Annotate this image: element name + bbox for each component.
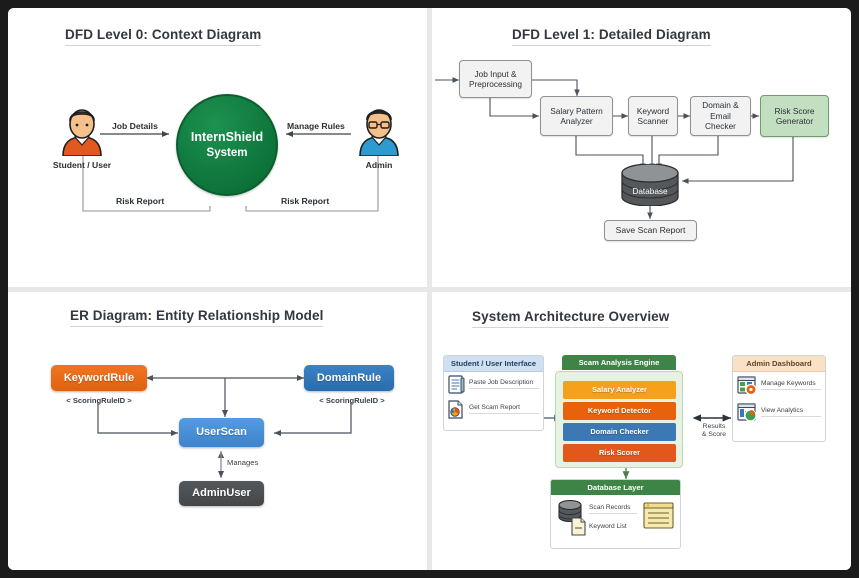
er-entity-keywordrule: KeywordRule <box>51 365 147 391</box>
internshield-system-process: InternShield System <box>176 94 278 196</box>
student-actor <box>51 104 113 156</box>
entity-label: KeywordRule <box>64 372 134 384</box>
report-chart-icon <box>448 400 465 419</box>
admin-item-label: Manage Keywords <box>761 380 821 390</box>
er-attribute-keyword-scoringruleid: < ScoringRuleID > <box>38 396 160 405</box>
admin-item-manage-keywords[interactable]: Manage Keywords <box>733 372 825 399</box>
flow-label-manage-rules: Manage Rules <box>287 121 345 131</box>
flow-label-job-details: Job Details <box>112 121 158 131</box>
flow-label-risk-report-left: Risk Report <box>116 196 164 206</box>
module-label: Salary Analyzer <box>592 385 647 394</box>
entity-label: UserScan <box>196 426 247 438</box>
connector-line1: Results <box>703 423 726 430</box>
engine-header: Scam Analysis Engine <box>562 355 676 370</box>
salary-line1: Salary Pattern <box>550 106 603 116</box>
er-entity-domainrule: DomainRule <box>304 365 394 391</box>
db-item-label: Keyword List <box>589 523 637 530</box>
student-actor-label: Student / User <box>36 160 128 170</box>
ui-item-label: Paste Job Description <box>469 379 539 389</box>
panel-dfd-level-1: DFD Level 1: Detailed Diagram <box>432 8 851 287</box>
save-report-label: Save Scan Report <box>616 225 686 236</box>
dfd1-connectors <box>432 8 851 287</box>
module-label: Risk Scorer <box>599 448 640 457</box>
risk-line2: Generator <box>776 116 813 126</box>
process-line-1: InternShield <box>191 130 263 146</box>
dfd1-process-domain-email-checker: Domain & Email Checker <box>690 96 751 136</box>
yellow-folder-icon <box>643 502 674 529</box>
job-input-line2: Preprocessing <box>469 79 522 89</box>
admin-actor-label: Admin <box>333 160 425 170</box>
arch-card-database-layer: Database Layer Scan Records Keyword List <box>550 479 681 549</box>
keyword-line1: Keyword <box>637 106 669 116</box>
dfd1-datastore-database: Database <box>620 164 680 206</box>
er-entity-adminuser: AdminUser <box>179 481 264 506</box>
arch-card-admin-dashboard: Admin Dashboard Manage Keywords <box>732 355 826 442</box>
job-input-line1: Job Input & <box>475 69 517 79</box>
dfd1-process-salary-pattern-analyzer: Salary Pattern Analyzer <box>540 96 613 136</box>
admin-item-view-analytics[interactable]: View Analytics <box>733 399 825 426</box>
er-attribute-domain-scoringruleid: < ScoringRuleID > <box>291 396 413 405</box>
module-label: Keyword Detector <box>588 406 651 415</box>
admin-dashboard-header: Admin Dashboard <box>733 356 825 372</box>
database-layer-header: Database Layer <box>551 480 680 495</box>
keyword-line2: Scanner <box>638 116 669 126</box>
salary-line2: Analyzer <box>560 116 592 126</box>
domain-line1: Domain & <box>702 100 738 110</box>
panel-er-diagram: ER Diagram: Entity Relationship Model Ke… <box>8 292 427 571</box>
admin-actor <box>348 104 410 156</box>
panel-dfd-level-0: DFD Level 0: Context Diagram <box>8 8 427 287</box>
panel-system-architecture: System Architecture Overview <box>432 292 851 571</box>
datastore-label: Database <box>620 187 680 196</box>
user-interface-header: Student / User Interface <box>444 356 543 372</box>
arch-module-salary-analyzer[interactable]: Salary Analyzer <box>563 381 676 399</box>
ui-item-get-scam-report[interactable]: Get Scam Report <box>444 397 543 422</box>
module-label: Domain Checker <box>590 427 648 436</box>
er-entity-userscan: UserScan <box>179 418 264 447</box>
arch-module-domain-checker[interactable]: Domain Checker <box>563 423 676 441</box>
dfd1-process-job-input: Job Input & Preprocessing <box>459 60 532 98</box>
dfd1-process-risk-score-generator: Risk Score Generator <box>760 95 829 137</box>
db-item-label: Scan Records <box>589 504 637 514</box>
arch-card-user-interface: Student / User Interface Paste Job Descr… <box>443 355 544 431</box>
document-lines-icon <box>448 375 465 394</box>
ui-item-label: Get Scam Report <box>469 404 539 414</box>
risk-line1: Risk Score <box>774 106 814 116</box>
arch-connector-results-score: Results & Score <box>696 423 732 440</box>
flow-label-risk-report-right: Risk Report <box>281 196 329 206</box>
admin-item-label: View Analytics <box>761 407 821 417</box>
connector-line2: & Score <box>702 431 726 438</box>
note-page-icon <box>571 517 587 536</box>
dashboard-gear-icon <box>737 375 757 396</box>
dashboard-pie-icon <box>737 402 757 423</box>
diagram-board: DFD Level 0: Context Diagram <box>8 8 851 570</box>
er-relationship-manages: Manages <box>227 458 258 467</box>
domain-line2: Email Checker <box>705 111 736 131</box>
dfd1-process-keyword-scanner: Keyword Scanner <box>628 96 678 136</box>
entity-label: AdminUser <box>192 487 251 499</box>
process-line-2: System <box>207 146 248 160</box>
entity-label: DomainRule <box>317 372 381 384</box>
arch-module-risk-scorer[interactable]: Risk Scorer <box>563 444 676 462</box>
ui-item-paste-job-description[interactable]: Paste Job Description <box>444 372 543 397</box>
arch-module-keyword-detector[interactable]: Keyword Detector <box>563 402 676 420</box>
dfd1-output-save-scan-report: Save Scan Report <box>604 220 697 241</box>
